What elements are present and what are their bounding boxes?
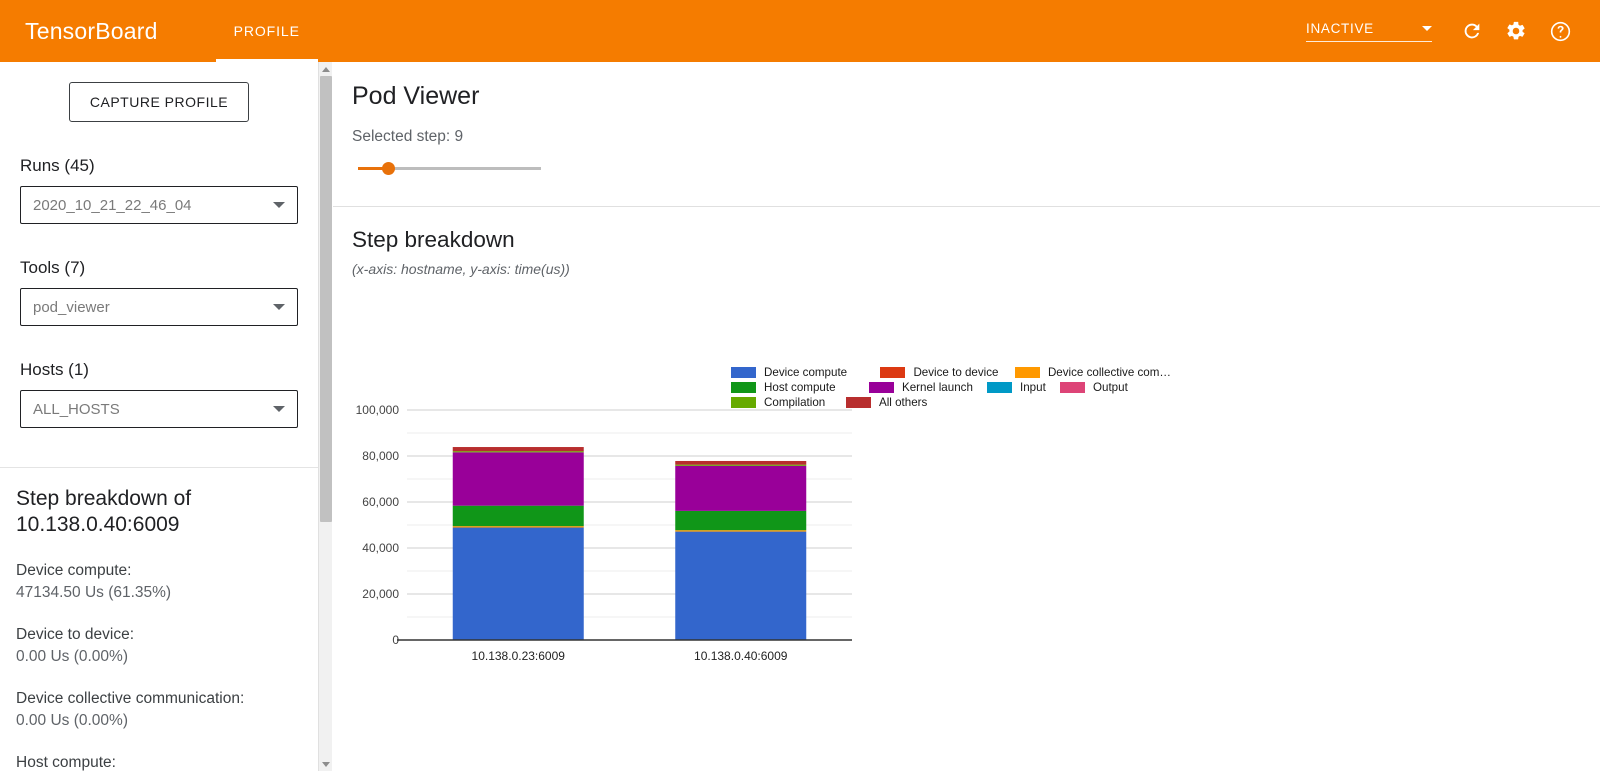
bar-segment xyxy=(675,511,806,530)
chevron-down-icon xyxy=(1422,26,1432,31)
chart-title: Step breakdown xyxy=(352,227,1600,253)
y-tick-label: 40,000 xyxy=(362,541,399,555)
runs-value: 2020_10_21_22_46_04 xyxy=(33,197,192,214)
detail-title: Step breakdown of 10.138.0.40:6009 xyxy=(16,486,256,538)
legend-item-output[interactable]: Output xyxy=(1060,381,1128,394)
legend-item-kernel-launch[interactable]: Kernel launch xyxy=(869,381,987,394)
legend-swatch xyxy=(1060,382,1085,393)
bar-segment xyxy=(675,530,806,531)
app-header: TensorBoard PROFILE INACTIVE xyxy=(0,0,1600,62)
refresh-icon xyxy=(1461,20,1483,42)
refresh-button[interactable] xyxy=(1452,11,1492,51)
hosts-field: Hosts (1) ALL_HOSTS xyxy=(0,360,318,428)
detail-value: 0.00 Us (0.00%) xyxy=(16,648,302,666)
legend-item-input[interactable]: Input xyxy=(987,381,1060,394)
tools-field: Tools (7) pod_viewer xyxy=(0,258,318,326)
legend-item-device-collective-communication[interactable]: Device collective com… xyxy=(1015,366,1171,379)
legend-label: Device collective com… xyxy=(1048,366,1171,379)
hosts-value: ALL_HOSTS xyxy=(33,401,120,418)
help-icon xyxy=(1549,20,1572,43)
chart-subtitle: (x-axis: hostname, y-axis: time(us)) xyxy=(352,261,1600,277)
chevron-down-icon xyxy=(273,202,285,208)
capture-profile-button[interactable]: CAPTURE PROFILE xyxy=(69,82,249,122)
step-breakdown-chart: 020,00040,00060,00080,000100,00010.138.0… xyxy=(352,342,872,672)
y-tick-label: 80,000 xyxy=(362,449,399,463)
bar-segment xyxy=(453,526,584,527)
y-tick-label: 20,000 xyxy=(362,587,399,601)
chevron-down-icon xyxy=(273,406,285,412)
tools-value: pod_viewer xyxy=(33,299,110,316)
bar-segment xyxy=(453,528,584,640)
bar-segment xyxy=(675,461,806,465)
legend-swatch xyxy=(987,382,1012,393)
scrollbar-thumb[interactable] xyxy=(320,76,332,522)
bar-segment xyxy=(453,452,584,505)
runs-field: Runs (45) 2020_10_21_22_46_04 xyxy=(0,156,318,224)
tab-profile[interactable]: PROFILE xyxy=(216,0,318,62)
run-state-dropdown[interactable]: INACTIVE xyxy=(1306,21,1432,42)
bar-segment xyxy=(453,447,584,451)
run-state-value: INACTIVE xyxy=(1306,21,1374,36)
sidebar: CAPTURE PROFILE Runs (45) 2020_10_21_22_… xyxy=(0,62,318,771)
legend-swatch xyxy=(1015,367,1040,378)
page-title: Pod Viewer xyxy=(352,82,1600,111)
scroll-up-arrow-icon[interactable] xyxy=(319,62,333,76)
hosts-select[interactable]: ALL_HOSTS xyxy=(20,390,298,428)
detail-value: 0.00 Us (0.00%) xyxy=(16,712,302,730)
section-divider xyxy=(333,206,1600,207)
bar-segment xyxy=(453,451,584,452)
detail-item: Device compute: 47134.50 Us (61.35%) xyxy=(16,562,302,602)
legend-label: Output xyxy=(1093,381,1128,394)
detail-key: Device compute: xyxy=(16,562,302,580)
bar-segment xyxy=(675,466,806,511)
detail-item: Device to device: 0.00 Us (0.00%) xyxy=(16,626,302,666)
app-brand: TensorBoard xyxy=(25,18,158,45)
main-content: Pod Viewer Selected step: 9 Step breakdo… xyxy=(333,62,1600,771)
x-tick-label: 10.138.0.23:6009 xyxy=(472,649,566,663)
detail-value: 47134.50 Us (61.35%) xyxy=(16,584,302,602)
bar-segment xyxy=(675,465,806,466)
step-slider[interactable] xyxy=(358,160,541,176)
legend-label: Device to device xyxy=(913,366,998,379)
selected-step-label: Selected step: 9 xyxy=(352,128,1600,146)
settings-button[interactable] xyxy=(1496,11,1536,51)
runs-label: Runs (45) xyxy=(20,156,298,176)
runs-select[interactable]: 2020_10_21_22_46_04 xyxy=(20,186,298,224)
bar-segment xyxy=(675,532,806,640)
nav-tabs: PROFILE xyxy=(216,0,318,62)
tools-select[interactable]: pod_viewer xyxy=(20,288,298,326)
hosts-label: Hosts (1) xyxy=(20,360,298,380)
tab-profile-label: PROFILE xyxy=(234,23,300,39)
detail-key: Host compute: xyxy=(16,754,302,771)
detail-item: Device collective communication: 0.00 Us… xyxy=(16,690,302,730)
header-actions: INACTIVE xyxy=(1306,11,1580,51)
gear-icon xyxy=(1505,20,1527,42)
detail-item: Host compute: xyxy=(16,754,302,771)
bar-segment xyxy=(453,506,584,526)
chevron-down-icon xyxy=(273,304,285,310)
legend-swatch xyxy=(869,382,894,393)
sidebar-divider xyxy=(0,467,318,468)
detail-key: Device to device: xyxy=(16,626,302,644)
help-button[interactable] xyxy=(1540,11,1580,51)
legend-item-device-to-device[interactable]: Device to device xyxy=(880,366,1015,379)
scroll-down-arrow-icon[interactable] xyxy=(319,757,333,771)
tools-label: Tools (7) xyxy=(20,258,298,278)
capture-profile-row: CAPTURE PROFILE xyxy=(0,62,318,122)
sidebar-scrollbar[interactable] xyxy=(318,62,332,771)
x-tick-label: 10.138.0.40:6009 xyxy=(694,649,788,663)
legend-label: Input xyxy=(1020,381,1046,394)
step-breakdown-detail: Step breakdown of 10.138.0.40:6009 Devic… xyxy=(0,486,318,771)
y-tick-label: 60,000 xyxy=(362,495,399,509)
legend-label: All others xyxy=(879,396,927,409)
y-tick-label: 100,000 xyxy=(356,403,400,417)
legend-label: Kernel launch xyxy=(902,381,973,394)
detail-key: Device collective communication: xyxy=(16,690,302,708)
slider-thumb[interactable] xyxy=(382,162,395,175)
legend-swatch xyxy=(880,367,905,378)
slider-track-remainder xyxy=(389,167,541,170)
